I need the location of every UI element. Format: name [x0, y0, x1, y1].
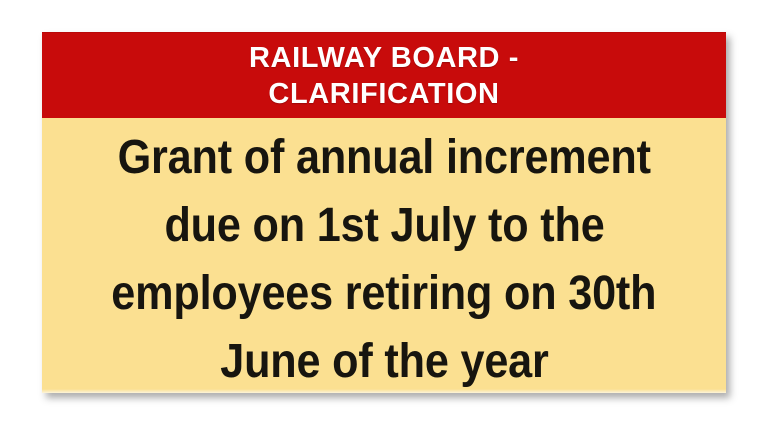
notice-body-line-4: June of the year — [220, 328, 548, 393]
banner-title-line-2: CLARIFICATION — [268, 76, 499, 112]
notice-body-line-3: employees retiring on 30th — [111, 260, 656, 328]
notice-body: Grant of annual increment due on 1st Jul… — [42, 118, 726, 393]
notice-card: RAILWAY BOARD - CLARIFICATION Grant of a… — [42, 32, 726, 393]
banner-title-line-1: RAILWAY BOARD - — [249, 40, 519, 76]
notice-body-line-1: Grant of annual increment — [117, 124, 650, 192]
page-background: RAILWAY BOARD - CLARIFICATION Grant of a… — [0, 0, 768, 432]
notice-header-banner: RAILWAY BOARD - CLARIFICATION — [42, 32, 726, 118]
notice-body-line-2: due on 1st July to the — [164, 192, 604, 260]
